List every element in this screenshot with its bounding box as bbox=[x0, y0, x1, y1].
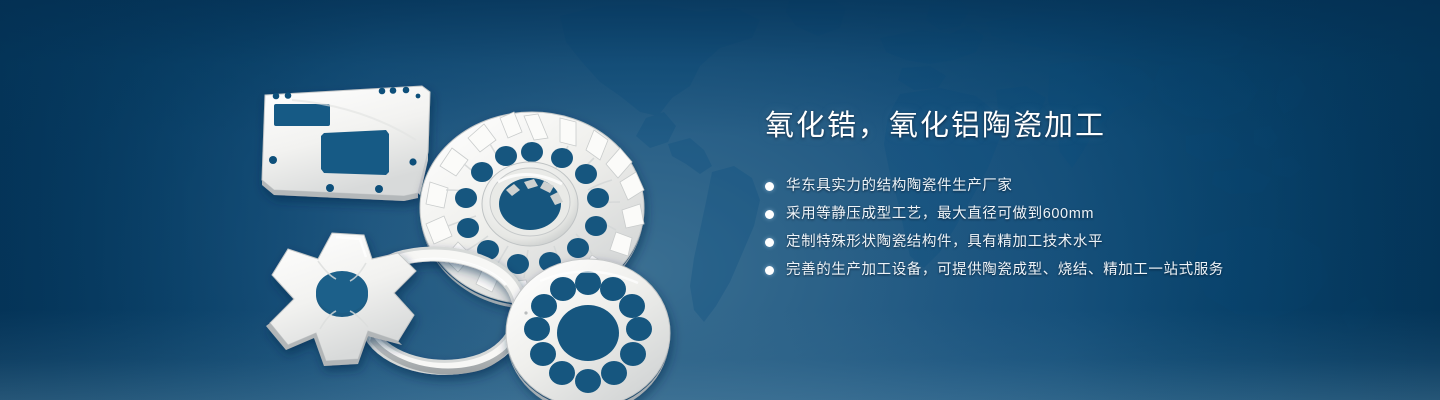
list-item-label: 完善的生产加工设备，可提供陶瓷成型、烧结、精加工一站式服务 bbox=[786, 260, 1224, 280]
list-item: 定制特殊形状陶瓷结构件，具有精加工技术水平 bbox=[765, 232, 1385, 252]
bullet-dot-icon bbox=[765, 238, 774, 247]
list-item: 华东具实力的结构陶瓷件生产厂家 bbox=[765, 176, 1385, 196]
banner-headline: 氧化锆，氧化铝陶瓷加工 bbox=[765, 108, 1385, 144]
ceramic-mounting-plate bbox=[262, 86, 430, 201]
list-item: 采用等静压成型工艺，最大直径可做到600mm bbox=[765, 204, 1385, 224]
ceramic-perforated-disc bbox=[506, 259, 670, 400]
list-item: 完善的生产加工设备，可提供陶瓷成型、烧结、精加工一站式服务 bbox=[765, 260, 1385, 280]
banner-copy: 氧化锆，氧化铝陶瓷加工 华东具实力的结构陶瓷件生产厂家 采用等静压成型工艺，最大… bbox=[765, 108, 1385, 288]
bullet-dot-icon bbox=[765, 182, 774, 191]
bullet-dot-icon bbox=[765, 210, 774, 219]
list-item-label: 定制特殊形状陶瓷结构件，具有精加工技术水平 bbox=[786, 232, 1103, 252]
list-item-label: 采用等静压成型工艺，最大直径可做到600mm bbox=[786, 204, 1094, 224]
bullet-dot-icon bbox=[765, 266, 774, 275]
list-item-label: 华东具实力的结构陶瓷件生产厂家 bbox=[786, 176, 1013, 196]
banner-feature-list: 华东具实力的结构陶瓷件生产厂家 采用等静压成型工艺，最大直径可做到600mm 定… bbox=[765, 176, 1385, 280]
product-banner: 氧化锆，氧化铝陶瓷加工 华东具实力的结构陶瓷件生产厂家 采用等静压成型工艺，最大… bbox=[0, 0, 1440, 400]
background-bottom-glow bbox=[0, 310, 1440, 400]
ceramic-products-image bbox=[232, 40, 692, 400]
